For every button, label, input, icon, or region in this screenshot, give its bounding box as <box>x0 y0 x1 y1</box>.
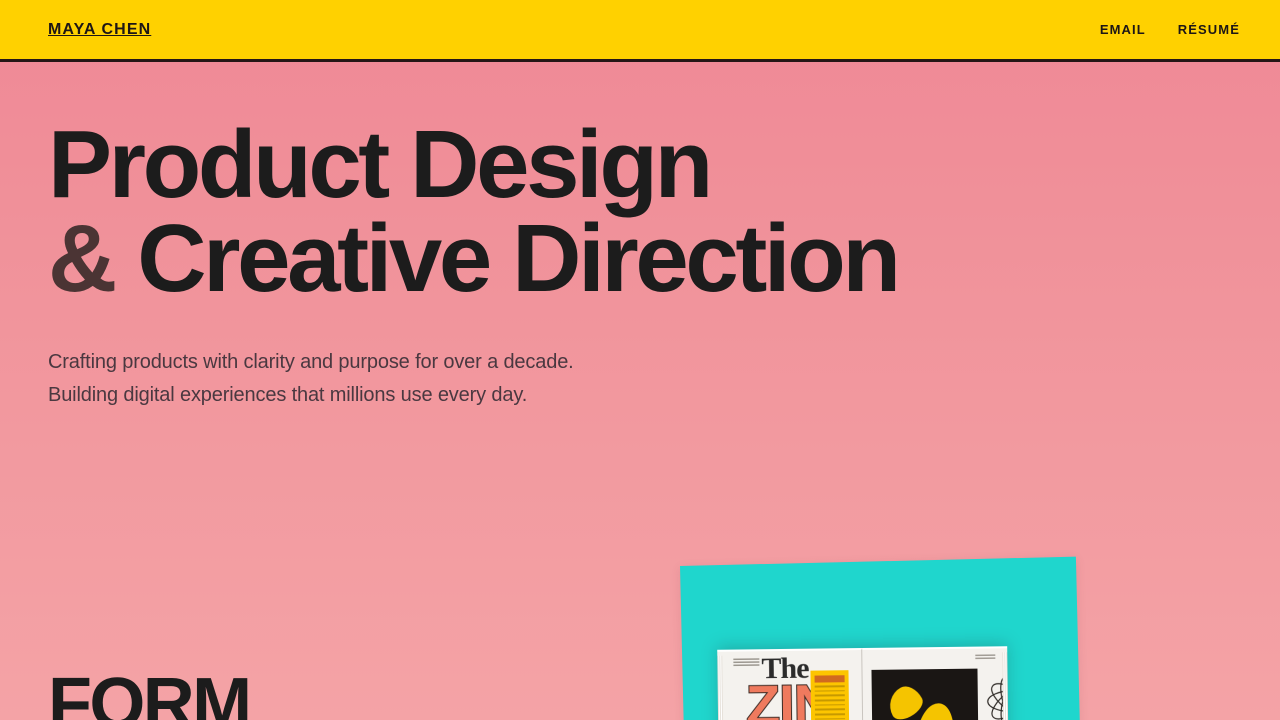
magazine-column-line <box>815 685 845 687</box>
magazine-right-page <box>862 646 1009 720</box>
site-header: MAYA CHEN EMAIL RÉSUMÉ <box>0 0 1280 62</box>
hero-section: Product Design & Creative Direction Craf… <box>48 118 1068 411</box>
page-root: MAYA CHEN EMAIL RÉSUMÉ Product Design & … <box>0 0 1280 720</box>
pear-shape-icon <box>883 681 927 720</box>
nav-link-resume[interactable]: RÉSUMÉ <box>1178 23 1240 36</box>
magazine-column-line <box>815 699 845 701</box>
next-section-heading: FORM <box>48 668 250 720</box>
magazine-yellow-column <box>810 670 849 720</box>
hero-title-line-1: Product Design <box>48 118 1068 212</box>
magazine-column-heading <box>815 675 845 682</box>
brand-logo[interactable]: MAYA CHEN <box>48 22 151 38</box>
atom-icon <box>985 672 1009 720</box>
page-title: Product Design & Creative Direction <box>48 118 1068 306</box>
magazine-column-line <box>815 690 845 692</box>
hero-title-line-2: & Creative Direction <box>48 212 1068 306</box>
magazine-black-panel <box>871 669 978 720</box>
magazine-column-line <box>815 704 845 706</box>
magazine-column-line <box>815 709 845 711</box>
hero-subtitle-line-2: Building digital experiences that millio… <box>48 379 1068 411</box>
hero-photo: The ZIN <box>640 520 1160 720</box>
magazine-kicker-text <box>733 658 759 667</box>
magazine-folio-text <box>975 654 995 660</box>
next-section-title: FORM <box>48 668 250 720</box>
hero-subtitle: Crafting products with clarity and purpo… <box>48 346 1068 411</box>
hero-title-line-2-text: Creative Direction <box>137 205 897 312</box>
magazine-left-page: The ZIN <box>717 648 864 720</box>
hero-subtitle-line-1: Crafting products with clarity and purpo… <box>48 346 1068 378</box>
nav-link-email[interactable]: EMAIL <box>1100 23 1146 36</box>
magazine-column-line <box>815 695 845 697</box>
open-magazine: The ZIN <box>717 646 1009 720</box>
magazine-column-line <box>815 713 845 715</box>
ampersand-glyph: & <box>48 205 114 312</box>
primary-navigation: EMAIL RÉSUMÉ <box>1100 23 1240 36</box>
